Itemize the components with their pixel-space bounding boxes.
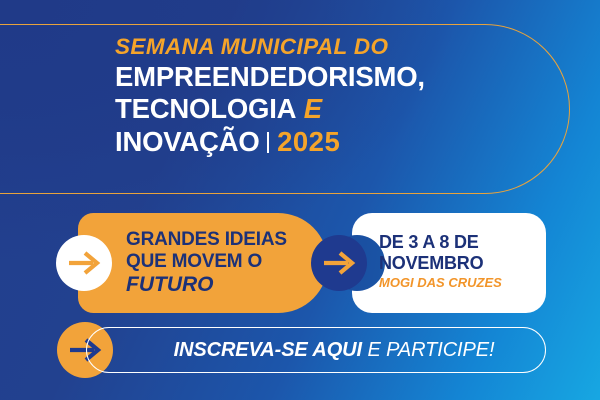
date-day-start: 3	[408, 232, 418, 252]
title-year: 2025	[277, 126, 340, 157]
arrow-right-icon	[67, 250, 101, 276]
date-prefix: DE	[379, 232, 404, 252]
idea-card[interactable]: GRANDES IDEIAS QUE MOVEM O FUTURO	[78, 213, 328, 313]
idea-card-line-2: QUE MOVEM O	[126, 251, 287, 273]
title-kicker: SEMANA MUNICIPAL DO	[115, 36, 535, 59]
title-line-2: TECNOLOGIA E	[115, 93, 535, 125]
title-line-2-main: TECNOLOGIA	[115, 93, 296, 124]
date-suffix: DE	[454, 232, 479, 252]
idea-card-line-3: FUTURO	[126, 273, 287, 298]
date-city: MOGI DAS CRUZES	[379, 276, 549, 291]
date-card-text: DE 3 A 8 DE NOVEMBRO MOGI DAS CRUZES	[379, 232, 549, 291]
cta-label: INSCREVA-SE AQUI E PARTICIPE!	[138, 339, 495, 362]
arrow-circle-date[interactable]	[311, 235, 367, 291]
date-day-end: 8	[439, 232, 449, 252]
arrow-circle-idea[interactable]	[56, 235, 112, 291]
date-month: NOVEMBRO	[379, 253, 549, 274]
cta-button[interactable]: INSCREVA-SE AQUI E PARTICIPE!	[86, 327, 546, 373]
title-block: SEMANA MUNICIPAL DO EMPREENDEDORISMO, TE…	[115, 36, 535, 158]
cta-label-bold: INSCREVA-SE AQUI	[174, 339, 362, 361]
title-line-1: EMPREENDEDORISMO,	[115, 61, 535, 93]
cta-label-normal: E PARTICIPE!	[362, 339, 494, 361]
arrow-right-icon	[322, 250, 356, 276]
date-card-line-1: DE 3 A 8 DE	[379, 232, 549, 253]
date-mid: A	[422, 232, 434, 252]
idea-card-line-1: GRANDES IDEIAS	[126, 229, 287, 251]
title-separator	[267, 132, 270, 153]
idea-card-text: GRANDES IDEIAS QUE MOVEM O FUTURO	[126, 229, 287, 298]
title-line-2-accent: E	[304, 93, 322, 124]
event-banner: SEMANA MUNICIPAL DO EMPREENDEDORISMO, TE…	[0, 0, 600, 400]
title-line-3: INOVAÇÃO2025	[115, 126, 535, 158]
title-line-3-main: INOVAÇÃO	[115, 126, 260, 157]
